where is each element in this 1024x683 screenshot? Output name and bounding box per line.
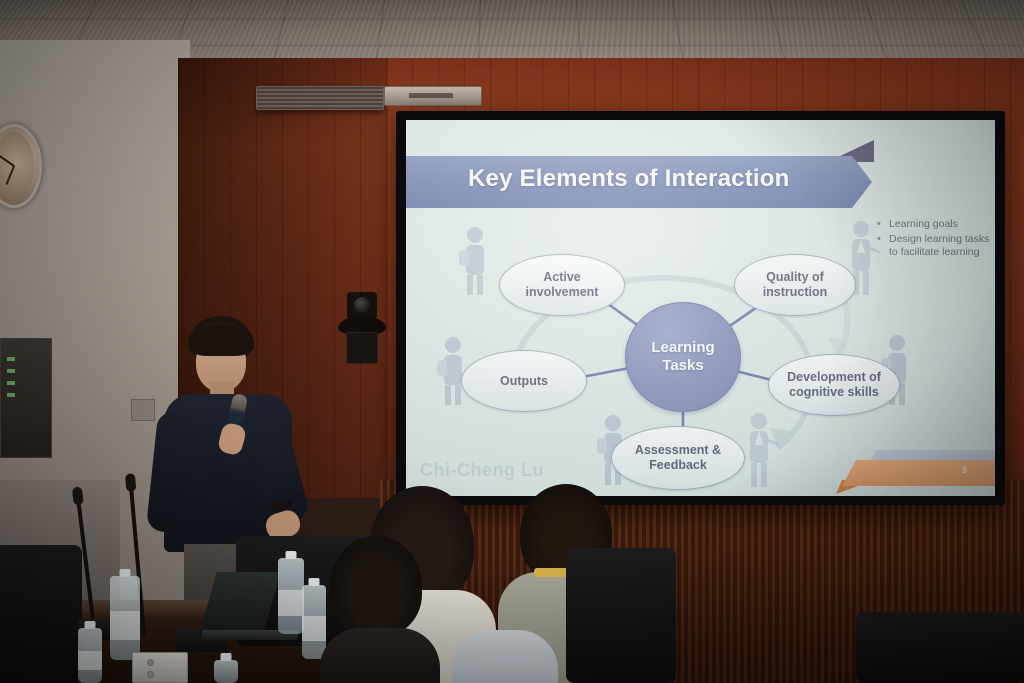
node-0-line1: Active [543, 270, 581, 284]
node-0-line2: involvement [526, 285, 599, 299]
projection-screen: Key Elements of Interaction [396, 111, 1005, 505]
diagram-node-development-of-cognitive-skills[interactable]: Development of cognitive skills [768, 354, 900, 416]
slide-number: 9 [962, 465, 967, 475]
audience-person [452, 610, 558, 683]
node-1-line2: instruction [763, 285, 828, 299]
node-2-line2: cognitive skills [789, 385, 879, 399]
video-conference-camera-icon [338, 292, 386, 366]
diagram-node-outputs[interactable]: Outputs [461, 350, 587, 412]
bullet-item: • Learning goals [877, 218, 995, 231]
slide-presenter-name: Chi-Cheng Lu [420, 460, 544, 481]
bullet-text: Design learning tasks to facilitate lear… [889, 233, 995, 259]
hub-label-line1: Learning [651, 339, 714, 356]
teacher-pointer-pictogram-icon [742, 412, 782, 488]
slide-title: Key Elements of Interaction [468, 165, 789, 193]
water-bottle [110, 576, 140, 660]
office-chair [0, 545, 82, 683]
student-pictogram-icon [458, 226, 492, 296]
ceiling-speaker-icon [256, 86, 384, 110]
node-2-line1: Development of [787, 370, 881, 384]
node-1-line1: Quality of [766, 270, 824, 284]
footer-orange-ribbon [842, 460, 995, 486]
bullet-marker: • [877, 233, 882, 259]
node-3-line2: Feedback [649, 458, 707, 472]
bullet-marker: • [877, 218, 882, 231]
water-bottle [214, 660, 238, 683]
projection-screen-housing [384, 86, 482, 106]
node-4-line1: Outputs [500, 374, 548, 388]
room-scene: Key Elements of Interaction [0, 0, 1024, 683]
equipment-box [132, 652, 188, 683]
diagram-node-active-involvement[interactable]: Active involvement [499, 254, 625, 316]
water-bottle [278, 558, 304, 634]
hub-label-line2: Tasks [662, 357, 703, 374]
water-bottle [78, 628, 102, 683]
diagram-node-learning-tasks[interactable]: Learning Tasks [625, 302, 741, 412]
audience-person [320, 536, 440, 683]
wall-equipment-rack [0, 338, 52, 458]
diagram-node-quality-of-instruction[interactable]: Quality of instruction [734, 254, 856, 316]
office-chair [566, 548, 676, 683]
slide-title-banner: Key Elements of Interaction [406, 156, 872, 208]
bullet-text: Learning goals [889, 218, 958, 231]
slide-bullet-list: • Learning goals • Design learning tasks… [877, 218, 995, 261]
node-3-line1: Assessment & [635, 443, 721, 457]
diagram-node-assessment-and-feedback[interactable]: Assessment & Feedback [611, 426, 745, 490]
presentation-slide: Key Elements of Interaction [406, 120, 995, 496]
bullet-item: • Design learning tasks to facilitate le… [877, 233, 995, 259]
office-chair [856, 612, 1024, 683]
